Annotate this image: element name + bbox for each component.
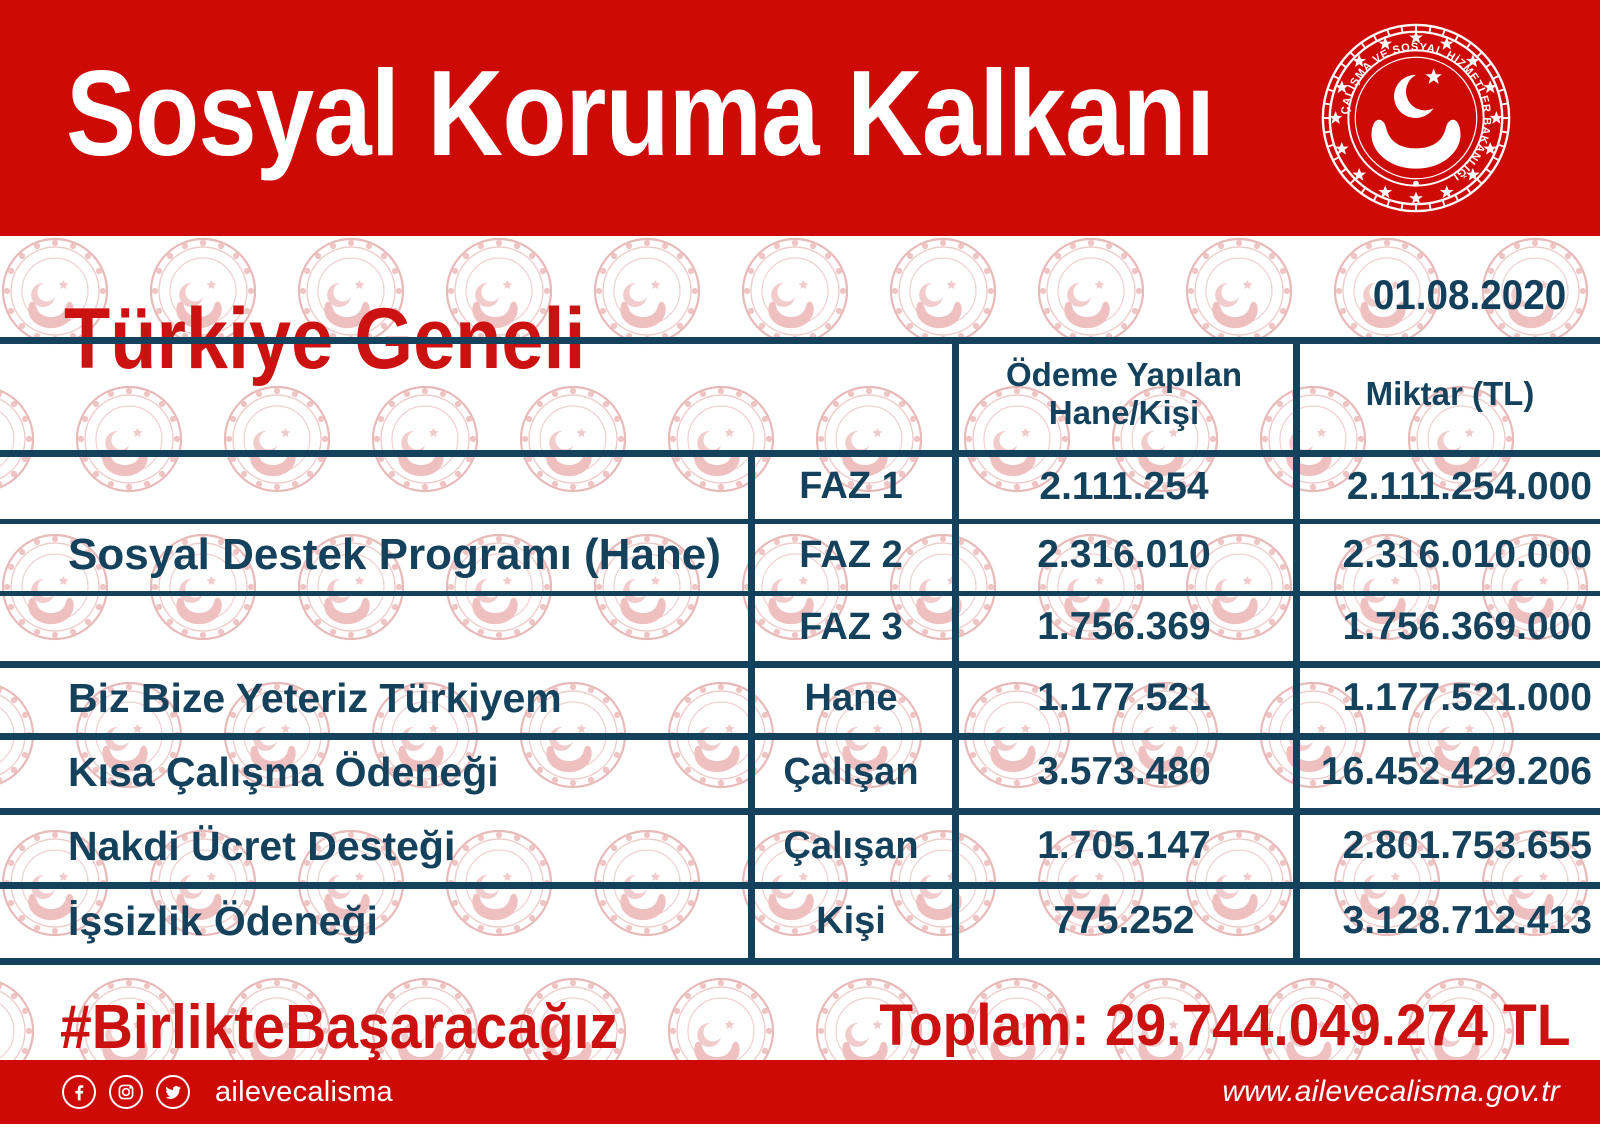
grid-line-row7	[0, 958, 1600, 965]
grid-line-col-count	[1293, 337, 1300, 958]
row-unit-biz-bize-yeteriz: Hane	[756, 665, 946, 731]
campaign-hashtag: #BirlikteBaşaracağız	[60, 992, 618, 1063]
facebook-icon[interactable]	[62, 1075, 96, 1109]
footer-bottom-edge	[0, 1124, 1600, 1142]
row-unit-faz1: FAZ 1	[756, 454, 946, 519]
row-amount-nakdi-ucret: 2.801.753.655	[1300, 812, 1592, 880]
row-count-kisa-calisma: 3.573.480	[959, 737, 1289, 807]
report-body: 01.08.2020 Türkiye Geneli Ödeme Yapılan …	[0, 236, 1600, 1142]
row-count-faz2: 2.316.010	[959, 523, 1289, 587]
row-count-nakdi-ucret: 1.705.147	[959, 812, 1289, 880]
row-count-issizlik: 775.252	[959, 886, 1289, 956]
row-label-issizlik: İşsizlik Ödeneği	[68, 886, 728, 956]
row-unit-faz3: FAZ 3	[756, 595, 946, 659]
row-unit-kisa-calisma: Çalışan	[756, 737, 946, 807]
row-label-nakdi-ucret: Nakdi Ücret Desteği	[68, 812, 728, 880]
row-unit-nakdi-ucret: Çalışan	[756, 812, 946, 880]
row-count-faz3: 1.756.369	[959, 595, 1289, 659]
page-header: Sosyal Koruma Kalkanı	[0, 0, 1600, 236]
column-header-count: Ödeme Yapılan Hane/Kişi	[959, 340, 1289, 448]
website-url[interactable]: www.ailevecalisma.gov.tr	[1222, 1060, 1560, 1124]
column-header-count-line2: Hane/Kişi	[1049, 394, 1199, 432]
row-unit-issizlik: Kişi	[756, 886, 946, 956]
column-header-count-line1: Ödeme Yapılan	[1006, 356, 1242, 394]
grid-line-col-program	[748, 450, 755, 958]
row-amount-faz2: 2.316.010.000	[1300, 523, 1592, 587]
row-amount-kisa-calisma: 16.452.429.206	[1300, 737, 1592, 807]
row-amount-biz-bize-yeteriz: 1.177.521.000	[1300, 665, 1592, 731]
row-count-biz-bize-yeteriz: 1.177.521	[959, 665, 1289, 731]
row-amount-faz3: 1.756.369.000	[1300, 595, 1592, 659]
instagram-icon[interactable]	[109, 1075, 143, 1109]
column-header-amount: Miktar (TL)	[1300, 340, 1600, 448]
twitter-icon[interactable]	[156, 1075, 190, 1109]
row-amount-issizlik: 3.128.712.413	[1300, 886, 1592, 956]
page-title: Sosyal Koruma Kalkanı	[66, 52, 1214, 174]
social-handle: ailevecalisma	[215, 1076, 393, 1109]
ministry-logo: T.C. AİLE, ÇALIŞMA VE SOSYAL HİZMETLER B…	[1318, 20, 1514, 216]
page-footer: ailevecalisma www.ailevecalisma.gov.tr	[0, 1060, 1600, 1124]
report-date: 01.08.2020	[1373, 271, 1566, 319]
total-amount: Toplam: 29.744.049.274 TL	[879, 992, 1570, 1059]
row-label-biz-bize-yeteriz: Biz Bize Yeteriz Türkiyem	[68, 665, 728, 731]
row-label-kisa-calisma: Kısa Çalışma Ödeneği	[68, 737, 728, 807]
grid-line-col-unit	[952, 337, 959, 958]
row-unit-faz2: FAZ 2	[756, 523, 946, 587]
row-label-sosyal-destek: Sosyal Destek Programı (Hane)	[68, 519, 728, 591]
row-amount-faz1: 2.111.254.000	[1300, 454, 1592, 519]
social-links: ailevecalisma	[62, 1060, 393, 1124]
row-count-faz1: 2.111.254	[959, 454, 1289, 519]
